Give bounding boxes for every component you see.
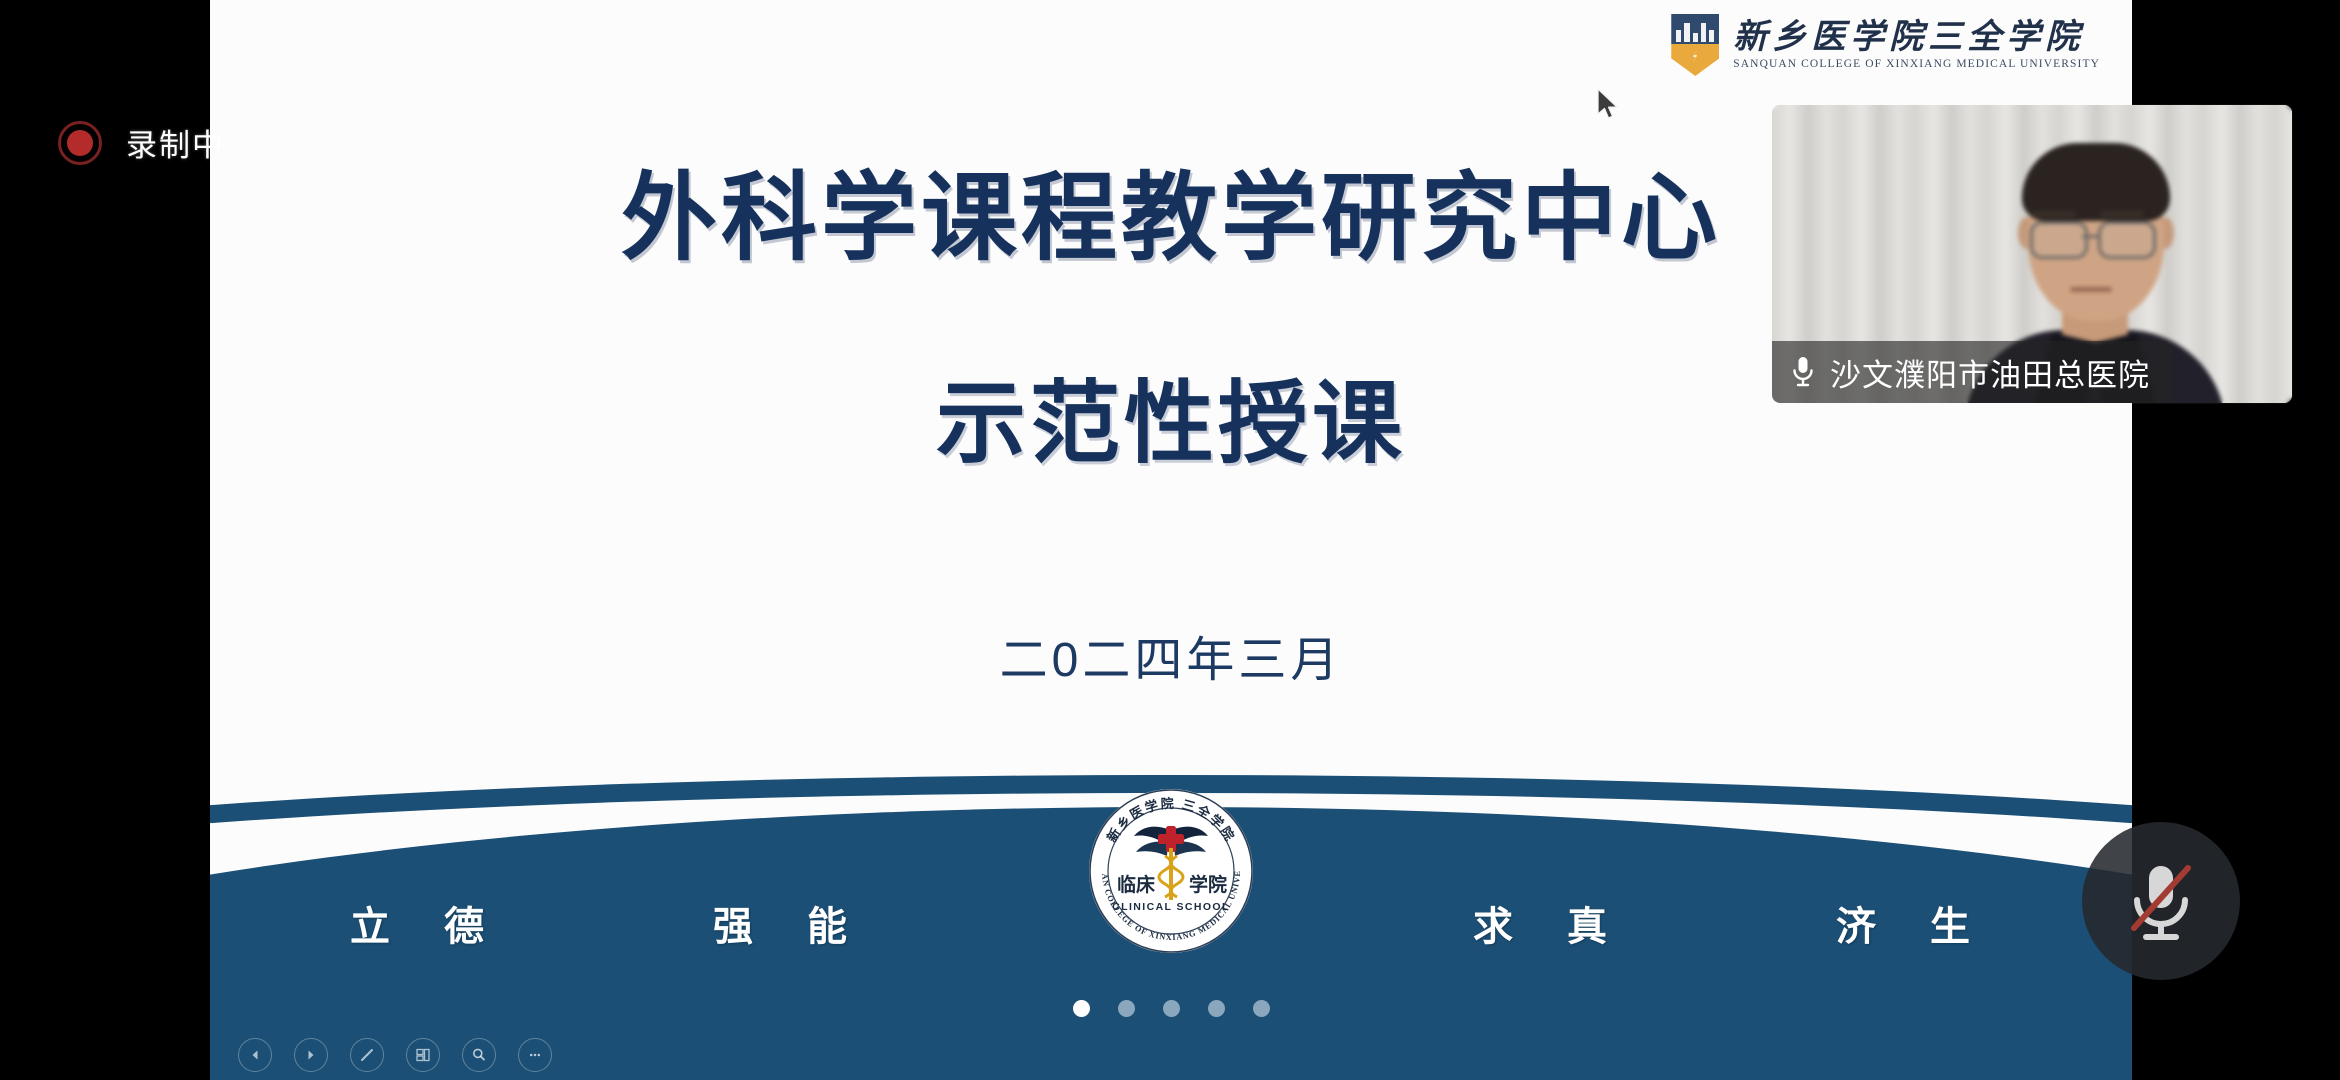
meeting-screen-share-view: 录制中 新乡医学院三全学院 SANQUAN COLLEGE OF XINXIAN… (0, 0, 2340, 1080)
participant-name: 沙文濮阳市油田总医院 (1830, 350, 2150, 395)
university-logo: 新乡医学院三全学院 SANQUAN COLLEGE OF XINXIANG ME… (1671, 14, 2100, 76)
participant-name-bar: 沙文濮阳市油田总医院 (1772, 341, 2172, 403)
recording-badge: 录制中 (58, 120, 225, 165)
svg-text:临床: 临床 (1117, 873, 1155, 896)
pen-icon[interactable] (350, 1038, 384, 1072)
slide-dot-5[interactable] (1253, 1000, 1270, 1017)
svg-text:CLINICAL SCHOOL: CLINICAL SCHOOL (1112, 901, 1230, 913)
microphone-muted-icon (2123, 856, 2199, 946)
magnifier-icon[interactable] (462, 1038, 496, 1072)
more-icon[interactable] (518, 1038, 552, 1072)
svg-text:学院: 学院 (1189, 873, 1227, 896)
previous-slide-icon[interactable] (238, 1038, 272, 1072)
slide-dot-3[interactable] (1163, 1000, 1180, 1017)
slide-dot-4[interactable] (1208, 1000, 1225, 1017)
clinical-school-seal: 新乡医学院 三全学院 SANQUAN COLLEGE OF XINXIANG M… (1086, 786, 1256, 956)
microphone-icon (1790, 354, 1816, 390)
slide-dot-2[interactable] (1118, 1000, 1135, 1017)
slide-toolbar[interactable] (238, 1038, 552, 1072)
arrow-cursor (1596, 88, 1622, 129)
slide-dot-1[interactable] (1073, 1000, 1090, 1017)
slide-pagination-dots[interactable] (210, 1000, 2132, 1017)
university-name-en: SANQUAN COLLEGE OF XINXIANG MEDICAL UNIV… (1733, 58, 2100, 70)
recording-label: 录制中 (126, 120, 225, 165)
next-slide-icon[interactable] (294, 1038, 328, 1072)
mute-toggle-button[interactable] (2082, 822, 2240, 980)
slide-date: 二0二四年三月 (210, 620, 2132, 690)
slide-grid-icon[interactable] (406, 1038, 440, 1072)
shield-icon (1671, 14, 1719, 76)
university-name-cn: 新乡医学院三全学院 (1733, 21, 2100, 55)
participant-video-tile[interactable]: 沙文濮阳市油田总医院 (1772, 105, 2292, 403)
recording-dot-icon (58, 121, 102, 165)
